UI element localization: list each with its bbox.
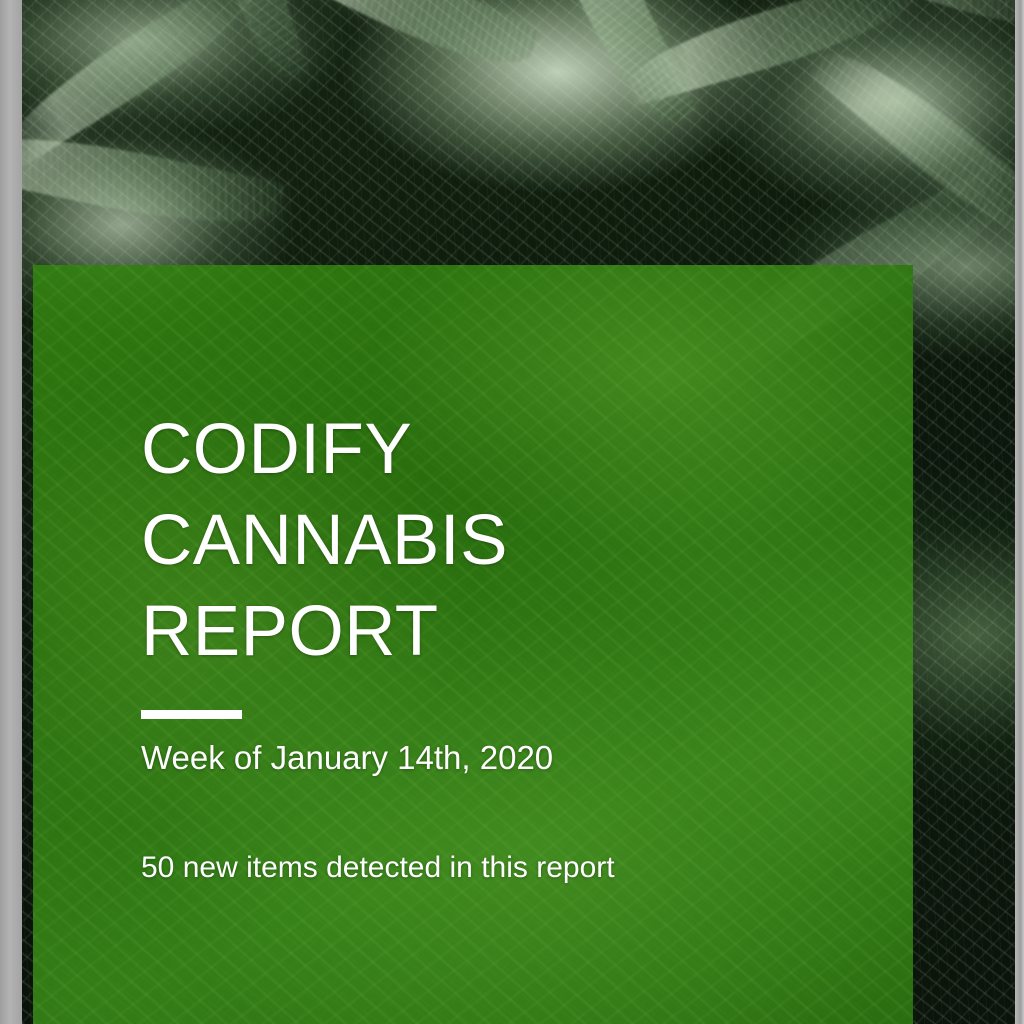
cover-copy-block: CODIFY CANNABIS REPORT Week of January 1… [141, 405, 873, 778]
cover-title-panel: CODIFY CANNABIS REPORT Week of January 1… [33, 265, 913, 1024]
leaf-frond-icon [195, 0, 309, 86]
report-date-subtitle: Week of January 14th, 2020 [141, 737, 873, 778]
title-divider-rule [141, 710, 242, 719]
viewer-left-gutter [0, 0, 22, 1024]
leaf-frond-icon [536, 0, 698, 136]
leaf-frond-icon [620, 0, 924, 106]
viewer-right-gutter [1015, 0, 1024, 1024]
leaf-frond-icon [808, 30, 1015, 267]
report-title: CODIFY CANNABIS REPORT [141, 405, 781, 678]
leaf-frond-icon [272, 0, 542, 88]
leaf-frond-icon [22, 0, 274, 169]
report-cover-page: CODIFY CANNABIS REPORT Week of January 1… [22, 0, 1015, 1024]
leaf-frond-icon [22, 117, 285, 242]
document-viewer: CODIFY CANNABIS REPORT Week of January 1… [0, 0, 1024, 1024]
leaf-frond-icon [840, 0, 1015, 46]
new-items-count-note: 50 new items detected in this report [141, 849, 615, 887]
